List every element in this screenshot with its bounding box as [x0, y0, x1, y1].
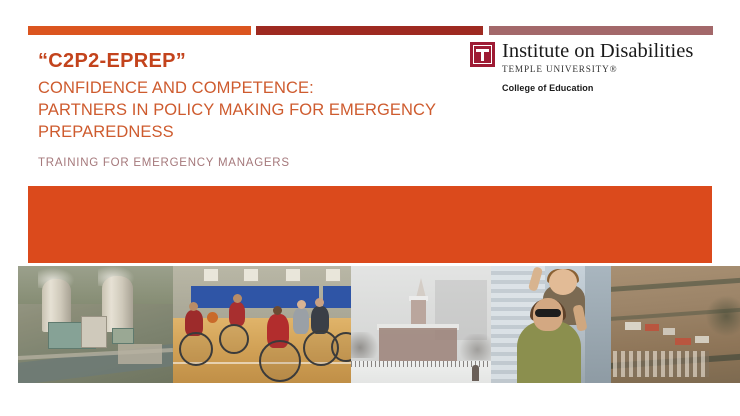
- gym-wall-padding-right: [323, 286, 351, 308]
- basketball-hoop-2: [243, 268, 259, 282]
- subtitle-line-1: CONFIDENCE AND COMPETENCE:: [38, 78, 468, 100]
- presentation-slide: “C2P2-EPREP” CONFIDENCE AND COMPETENCE: …: [0, 0, 740, 416]
- logo-row: Institute on Disabilities TEMPLE UNIVERS…: [470, 41, 715, 74]
- basketball: [207, 312, 218, 323]
- sunglasses-icon: [535, 309, 561, 317]
- wheelchair-2: [219, 324, 249, 354]
- temple-institute-logo: Institute on Disabilities TEMPLE UNIVERS…: [470, 41, 715, 93]
- subtitle-line-3: PREPAREDNESS: [38, 122, 468, 144]
- slide-kicker: TRAINING FOR EMERGENCY MANAGERS: [38, 157, 468, 169]
- accent-bar-orange: [28, 26, 251, 35]
- player-head-1: [189, 302, 198, 311]
- plant-building-2: [81, 316, 107, 348]
- logo-text-group: Institute on Disabilities TEMPLE UNIVERS…: [502, 41, 693, 74]
- wheelchair-3: [259, 340, 301, 382]
- slide-subtitle: CONFIDENCE AND COMPETENCE: PARTNERS IN P…: [38, 78, 468, 143]
- subtitle-line-2: PARTNERS IN POLICY MAKING FOR EMERGENCY: [38, 100, 468, 122]
- player-head-5: [297, 300, 306, 309]
- child-head: [549, 269, 577, 295]
- player-head-3: [273, 306, 282, 315]
- snow-pedestrian: [472, 365, 479, 381]
- logo-university-name: TEMPLE UNIVERSITY®: [502, 65, 693, 74]
- title-block: “C2P2-EPREP” CONFIDENCE AND COMPETENCE: …: [38, 50, 468, 169]
- family-right-panel: [585, 266, 611, 383]
- basketball-hoop-3: [285, 268, 301, 282]
- player-red-2: [229, 302, 245, 326]
- flood-building-1: [625, 322, 641, 330]
- snow-trees-left: [351, 332, 381, 358]
- flood-vehicle-cluster: [613, 351, 709, 377]
- photo-wheelchair-basketball-game: [173, 266, 351, 383]
- logo-college-name: College of Education: [502, 83, 715, 93]
- wheelchair-1: [179, 332, 213, 366]
- logo-institute-name: Institute on Disabilities: [502, 41, 693, 62]
- basketball-hoop-1: [203, 268, 219, 282]
- flood-building-4: [675, 338, 691, 345]
- player-head-2: [233, 294, 242, 303]
- flood-building-5: [695, 336, 709, 343]
- accent-bar-crimson: [256, 26, 483, 35]
- flood-building-3: [663, 328, 675, 335]
- temple-t-icon: [470, 42, 495, 67]
- snow-fence: [351, 361, 491, 367]
- photo-woman-carrying-child: [491, 266, 611, 383]
- flood-building-2: [645, 324, 659, 331]
- player-gray: [293, 308, 309, 334]
- photo-strip: [18, 266, 740, 383]
- plant-building-3: [112, 328, 134, 344]
- accent-bar-group: [0, 26, 740, 35]
- player-head-4: [315, 298, 324, 307]
- flood-tree-line: [706, 296, 740, 336]
- temple-t-glyph: [473, 45, 492, 64]
- photo-nuclear-power-plant-aerial: [18, 266, 173, 383]
- accent-bar-rose: [489, 26, 713, 35]
- hall-steeple: [416, 278, 426, 298]
- photo-independence-hall-snowstorm: [351, 266, 491, 383]
- slide-title: “C2P2-EPREP”: [38, 50, 468, 72]
- photo-flood-aerial: [611, 266, 740, 383]
- orange-banner-block: [28, 186, 712, 263]
- snow-trees-right: [457, 334, 491, 360]
- basketball-hoop-4: [325, 268, 341, 282]
